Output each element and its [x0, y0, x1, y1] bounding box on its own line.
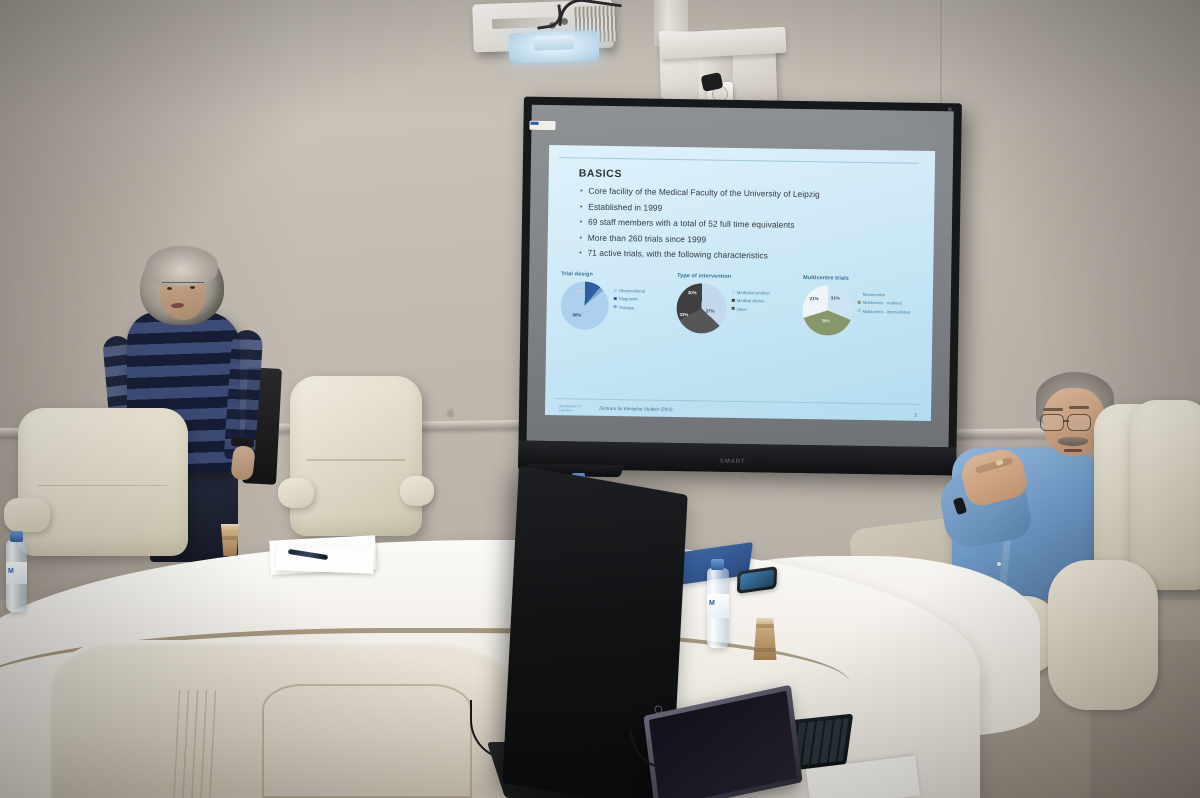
shirt-button — [997, 562, 1001, 566]
pie-slice-label: 39% — [821, 318, 830, 323]
apron-panel — [262, 684, 472, 798]
presenter-eye — [167, 287, 172, 290]
legend-swatch-icon — [858, 301, 861, 304]
chart-legend: Medicinal product Medical device Other — [732, 284, 770, 315]
legend-label: Multicentre - national — [863, 300, 902, 306]
pie-chart-trial-design: Trial design 11% 86% Observational — [559, 271, 677, 383]
pie-slice-label: 21% — [810, 296, 819, 301]
presenter-hair-front — [146, 246, 218, 286]
legend-item: Medicinal product — [732, 290, 770, 296]
projected-slide: BASICS Core facility of the Medical Facu… — [545, 145, 935, 421]
list-item: 71 active trials, with the following cha… — [579, 248, 909, 263]
bottle-label: M — [707, 594, 729, 618]
pie-slice-label: 31% — [831, 295, 840, 300]
slide-charts: Trial design 11% 86% Observational — [559, 271, 921, 387]
list-item: 69 staff members with a total of 52 full… — [580, 217, 910, 232]
cup-band — [752, 648, 778, 652]
bullet-dot-icon — [580, 221, 582, 223]
legend-swatch-icon — [614, 297, 617, 300]
pie-graphic: 31% 39% 21% — [802, 285, 853, 336]
bullet-dot-icon — [580, 205, 582, 207]
whiteboard-screw — [948, 107, 952, 111]
bottle-cap — [10, 531, 23, 542]
slide-title: BASICS — [579, 167, 622, 180]
legend-label: Other — [737, 306, 748, 311]
bullet-text: Established in 1999 — [588, 201, 662, 212]
slide-bullet-list: Core facility of the Medical Faculty of … — [579, 185, 910, 268]
chart-title: Multicentre trials — [803, 275, 921, 283]
bullet-text: 69 staff members with a total of 52 full… — [588, 217, 795, 230]
legend-swatch-icon — [732, 290, 735, 293]
bullet-dot-icon — [580, 236, 582, 238]
slide-page-number: 2 — [914, 413, 917, 419]
eyeglasses-icon — [1040, 414, 1064, 431]
list-item: Core facility of the Medical Faculty of … — [580, 185, 910, 200]
presenter-eye — [190, 286, 195, 289]
attendee-mouth — [1064, 449, 1082, 452]
legend-item: Medical device — [732, 298, 770, 304]
university-logo: UNIVERSITÄT LEIPZIG — [559, 404, 581, 412]
legend-swatch-icon — [614, 289, 617, 292]
whiteboard-brand-label: SMART — [720, 459, 746, 465]
pie-chart-type-of-intervention: Type of intervention 37% 33% 30% Medicin… — [675, 273, 803, 385]
legend-label: Medicinal product — [737, 290, 770, 296]
bullet-text: 71 active trials, with the following cha… — [587, 248, 768, 261]
slide-top-rule — [559, 157, 919, 164]
pie-graphic: 11% 86% — [560, 281, 609, 330]
water-bottle-front[interactable]: M — [707, 568, 729, 648]
cup-band — [219, 536, 241, 540]
bullet-dot-icon — [580, 189, 582, 191]
chair-right[interactable] — [1130, 400, 1200, 590]
attendee-eyebrow — [1069, 406, 1089, 409]
legend-swatch-icon — [858, 309, 861, 312]
chair-armrest[interactable] — [4, 498, 50, 532]
list-item: Established in 1999 — [580, 201, 910, 216]
legend-swatch-icon — [614, 305, 617, 308]
legend-item: Multicentre - national — [858, 300, 910, 306]
whiteboard-sticker — [529, 121, 555, 130]
bullet-text: Core facility of the Medical Faculty of … — [588, 186, 819, 200]
apron-fluting — [173, 690, 223, 798]
legend-item: Multicentre - international — [858, 308, 910, 314]
pie-chart-multicentre-trials: Multicentre trials 31% 39% 21% Monocentr… — [801, 275, 921, 387]
wall-mark — [447, 409, 454, 418]
bottle-label: M — [6, 562, 27, 584]
legend-label: Monocentre — [863, 292, 885, 298]
chair-backrest — [18, 408, 188, 556]
phone-screen — [740, 570, 774, 591]
logo-line-2: LEIPZIG — [559, 408, 581, 412]
legend-swatch-icon — [858, 292, 861, 295]
legend-label: Medical device — [737, 298, 765, 304]
table-apron — [50, 640, 520, 798]
chair-left[interactable] — [18, 408, 188, 556]
bullet-text: More than 260 trials since 1999 — [588, 232, 707, 244]
pie-slice-label: 33% — [680, 312, 689, 317]
chair-backrest — [290, 376, 422, 536]
bullet-dot-icon — [579, 252, 581, 254]
legend-swatch-icon — [732, 307, 735, 310]
eyeglasses-bridge — [1063, 420, 1069, 422]
chair-backrest — [1130, 400, 1200, 590]
bottle-cap — [711, 559, 724, 570]
legend-label: Therapy — [619, 305, 634, 310]
legend-item: Diagnostic — [614, 296, 645, 302]
slide-footer-org: Zentrum für Klinische Studien (ZKS) — [599, 406, 673, 412]
chart-legend: Observational Diagnostic Therapy — [614, 282, 645, 313]
pie-slice-label: 86% — [572, 312, 581, 317]
water-bottle[interactable]: M — [6, 540, 27, 612]
chair-armrest[interactable] — [400, 476, 434, 506]
chair-center[interactable] — [290, 376, 422, 536]
projector-lens-inner — [534, 35, 574, 50]
chart-title: Trial design — [561, 271, 677, 279]
legend-label: Multicentre - international — [863, 308, 910, 314]
chart-title: Type of intervention — [677, 273, 803, 281]
legend-item: Monocentre — [858, 292, 910, 298]
slide-footer-rule — [555, 398, 921, 405]
conference-room-photo: BASICS Core facility of the Medical Facu… — [0, 0, 1200, 798]
attendee-eyebrow — [1043, 408, 1063, 411]
pie-graphic: 37% 33% 30% — [676, 283, 727, 334]
legend-item: Other — [732, 306, 770, 312]
chair-side-panel[interactable] — [1048, 560, 1158, 710]
pie-slice-label: 11% — [575, 288, 584, 293]
legend-item: Therapy — [614, 305, 645, 311]
pie-slice-label: 37% — [706, 308, 715, 313]
list-item: More than 260 trials since 1999 — [580, 232, 910, 247]
pie-slice-label: 30% — [688, 290, 697, 295]
attendee-mustache — [1058, 437, 1088, 446]
chair-seam — [306, 459, 406, 461]
legend-swatch-icon — [732, 299, 735, 302]
legend-item: Observational — [614, 288, 645, 294]
eyeglasses-icon — [1067, 414, 1091, 431]
chart-legend: Monocentre Multicentre - national Multic… — [858, 286, 910, 318]
interactive-whiteboard[interactable]: BASICS Core facility of the Medical Facu… — [518, 97, 962, 476]
legend-label: Observational — [619, 288, 645, 294]
chair-armrest[interactable] — [278, 478, 314, 508]
legend-label: Diagnostic — [619, 296, 639, 302]
